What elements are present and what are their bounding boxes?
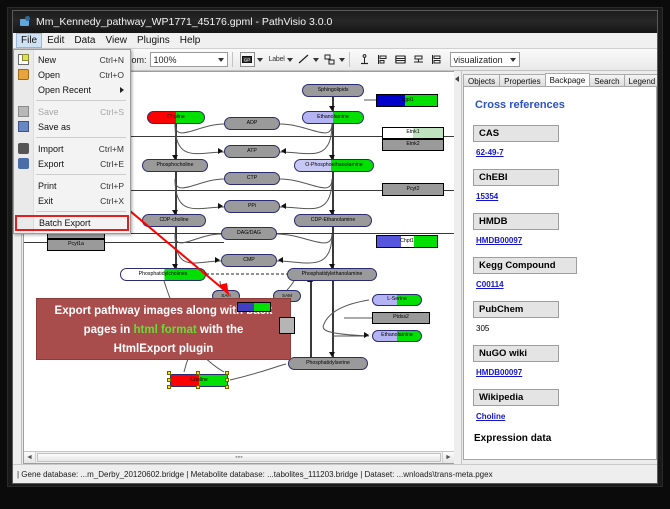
import-icon	[18, 143, 29, 154]
pathvisio-window: Mm_Kennedy_pathway_WP1771_45176.gpml - P…	[12, 10, 658, 484]
file-menu-open-accel: Ctrl+O	[99, 70, 130, 80]
arrow-ppi-left	[218, 203, 223, 209]
node-label: CMP	[243, 258, 255, 263]
node-phosphocholine[interactable]: Phosphocholine	[142, 159, 208, 172]
file-menu-export-accel: Ctrl+E	[100, 159, 130, 169]
node-pemt[interactable]	[237, 302, 271, 312]
file-menu-export[interactable]: Export Ctrl+E	[14, 156, 130, 171]
node-ctp[interactable]: CTP	[224, 172, 280, 185]
node-unnamed-grey[interactable]	[279, 317, 295, 334]
zoom-combo[interactable]: 100%	[150, 52, 228, 67]
cross-references-title: Cross references	[475, 99, 647, 111]
selection-handle-sw[interactable]	[167, 385, 171, 389]
node-sphingolipids[interactable]: Sphingolipids	[302, 84, 364, 97]
file-menu-separator-1	[36, 100, 126, 101]
menu-file[interactable]: File	[16, 33, 42, 48]
node-pcyt1a[interactable]: Pcyt1a	[47, 239, 105, 251]
xref-value: 305	[476, 324, 489, 333]
arrow-atp-left	[218, 148, 223, 154]
align-left-icon[interactable]	[375, 52, 390, 67]
node-label: Sphingolipids	[318, 88, 349, 93]
file-dropdown-menu: New Ctrl+N Open Ctrl+O Open Recent Save …	[13, 49, 131, 234]
selection-handle-ne[interactable]	[225, 371, 229, 375]
xref-link[interactable]: Choline	[476, 412, 505, 421]
align-center-icon[interactable]	[393, 52, 408, 67]
node-atp[interactable]: ATP	[224, 145, 280, 158]
node-cdp-ethanolamine[interactable]: CDP-Ethanolamine	[294, 214, 372, 227]
annotation-line-2a: pages in	[84, 324, 134, 336]
file-menu-open-recent[interactable]: Open Recent	[14, 82, 130, 97]
edge-v-ps-pe	[310, 281, 312, 357]
anchor-icon[interactable]	[357, 52, 372, 67]
xref-wikipedia: Wikipedia Choline	[473, 389, 647, 424]
save-as-icon	[18, 121, 29, 132]
node-label: CDP-choline	[159, 218, 188, 223]
node-cmp[interactable]: CMP	[221, 254, 277, 267]
annotation-line-2: pages in html format with the	[37, 321, 290, 340]
status-bar: | Gene database: ...m_Derby_20120602.bri…	[13, 464, 657, 483]
edge-v-choline-3	[175, 227, 177, 269]
node-label: ATP	[247, 149, 257, 154]
node-label: Chpt1	[400, 239, 414, 244]
node-label: Phosphatidylcholines	[139, 272, 188, 277]
file-menu-exit-label: Exit	[38, 196, 53, 206]
menu-edit[interactable]: Edit	[42, 33, 69, 48]
arrow-atp-right	[281, 148, 286, 154]
annotation-line-3: HtmlExport plugin	[37, 340, 290, 359]
arrow-cmp-left	[215, 257, 220, 263]
edge-v-etn-3	[332, 227, 334, 269]
node-label: Phosphocholine	[157, 163, 194, 168]
node-label: Ethanolamine	[381, 333, 413, 338]
export-icon	[18, 158, 29, 169]
node-sgpl1[interactable]: Sgpl1	[376, 94, 438, 107]
side-panel-rail	[454, 71, 462, 464]
status-text: | Gene database: ...m_Derby_20120602.bri…	[17, 470, 493, 479]
xref-label: HMDB	[473, 213, 559, 230]
file-menu-print[interactable]: Print Ctrl+P	[14, 178, 130, 193]
new-file-icon	[18, 54, 29, 65]
toolbar-divider-2	[349, 52, 350, 67]
file-menu-open-recent-label: Open Recent	[38, 85, 91, 95]
selection-handle-e[interactable]	[225, 378, 229, 382]
edge-v-choline-2	[175, 172, 177, 215]
xref-label: CAS	[473, 125, 559, 142]
node-label: Ethanolamine	[317, 115, 349, 120]
node-phosphatidylcholines[interactable]: Phosphatidylcholines	[120, 268, 206, 281]
file-menu-print-label: Print	[38, 181, 57, 191]
node-label: Ptdss2	[393, 315, 409, 320]
selection-handle-se[interactable]	[225, 385, 229, 389]
canvas-horizontal-scrollbar[interactable]: ◄ ▪▪▪ ►	[24, 451, 454, 463]
xref-label: ChEBI	[473, 169, 559, 186]
node-label: O-Phosphoethanolamine	[305, 163, 362, 168]
file-menu-separator-4	[36, 211, 126, 212]
menu-help[interactable]: Help	[175, 33, 206, 48]
edge-v-etn-2	[332, 172, 334, 215]
side-panel: Objects Properties Backpage Search Legen…	[454, 71, 657, 464]
node-etnk2[interactable]: Etnk2	[382, 139, 444, 151]
node-label: Pcyt2	[407, 187, 420, 192]
svg-text:GP: GP	[244, 57, 251, 62]
node-label: Etnk1	[406, 130, 419, 135]
node-o-phosphoethanolamine[interactable]: O-Phosphoethanolamine	[294, 159, 374, 172]
file-menu-batch-export[interactable]: Batch Export	[15, 215, 129, 231]
file-menu-import-label: Import	[38, 144, 64, 154]
open-folder-icon	[18, 69, 29, 80]
shape-dropdown-icon[interactable]	[339, 58, 345, 62]
menu-bar: File Edit Data View Plugins Help	[13, 33, 657, 49]
xref-link[interactable]: 15354	[476, 192, 498, 201]
node-label: L-Serine	[387, 297, 407, 302]
backpage-content: Cross references CAS 62-49-7 ChEBI 15354…	[463, 86, 657, 460]
chevron-down-icon-2	[510, 58, 516, 62]
app-icon	[19, 16, 31, 28]
node-label: DAG/DAG	[237, 231, 261, 236]
node-dag[interactable]: DAG/DAG	[221, 227, 277, 240]
file-menu-exit[interactable]: Exit Ctrl+X	[14, 193, 130, 208]
side-panel-tabs: Objects Properties Backpage Search Legen…	[463, 73, 657, 87]
xref-link[interactable]: 62-49-7	[476, 148, 504, 157]
xref-nugo: NuGO wiki HMDB00097	[473, 345, 647, 380]
selection-handle-nw[interactable]	[167, 371, 171, 375]
arrow-cmp-right	[278, 257, 283, 263]
scrollbar-thumb[interactable]: ▪▪▪	[37, 453, 441, 462]
arrow-etn-bottom	[364, 332, 369, 338]
file-menu-separator-3	[36, 174, 126, 175]
scroll-left-icon[interactable]: ◄	[24, 452, 36, 463]
label-dropdown-icon[interactable]	[287, 58, 293, 62]
line-dropdown-icon[interactable]	[313, 58, 319, 62]
node-label: Sgpl1	[400, 98, 413, 103]
node-phosphatidylethanolamine[interactable]: Phosphatidylethanolamine	[287, 268, 377, 281]
toolbar-divider	[232, 52, 233, 67]
node-phosphatidylserine[interactable]: Phosphatidylserine	[288, 357, 368, 370]
visualization-value: visualization	[454, 55, 503, 65]
window-title: Mm_Kennedy_pathway_WP1771_45176.gpml - P…	[36, 16, 332, 28]
edge-v-pe-ps	[332, 281, 334, 357]
file-menu-new-accel: Ctrl+N	[100, 55, 130, 65]
arrow-ppi-right	[281, 203, 286, 209]
file-menu-separator-2	[36, 137, 126, 138]
file-menu-save-accel: Ctrl+S	[100, 107, 130, 117]
node-label: PPi	[248, 204, 256, 209]
xref-chebi: ChEBI 15354	[473, 169, 647, 204]
xref-label: Kegg Compound	[473, 257, 577, 274]
node-ptdss2[interactable]: Ptdss2	[372, 312, 430, 324]
node-etnk1[interactable]: Etnk1	[382, 127, 444, 139]
menu-plugins[interactable]: Plugins	[132, 33, 175, 48]
stack-icon[interactable]	[429, 52, 444, 67]
annotation-line-2b: with the	[197, 324, 244, 336]
file-menu-new-label: New	[38, 55, 56, 65]
collapse-panel-icon[interactable]	[455, 76, 459, 82]
node-label: Pcyt1a	[68, 242, 84, 247]
file-menu-save-label: Save	[38, 107, 59, 117]
node-choline-top[interactable]: Choline	[147, 111, 205, 124]
node-label: Phosphatidylserine	[306, 361, 350, 366]
gene-product-icon[interactable]: GP	[240, 52, 255, 67]
annotation-highlight: html format	[133, 324, 196, 336]
xref-link[interactable]: HMDB00097	[476, 236, 522, 245]
file-menu-print-accel: Ctrl+P	[100, 181, 130, 191]
node-chpt1[interactable]: Chpt1	[376, 235, 438, 248]
selection-handle-s[interactable]	[196, 385, 200, 389]
title-bar: Mm_Kennedy_pathway_WP1771_45176.gpml - P…	[13, 11, 657, 33]
line-icon[interactable]	[296, 52, 311, 67]
node-ethanolamine-bottom[interactable]: Ethanolamine	[372, 330, 422, 342]
node-label: Choline	[167, 115, 185, 120]
node-ppi[interactable]: PPi	[224, 200, 280, 213]
file-menu-exit-accel: Ctrl+X	[100, 196, 130, 206]
screenshot-root: Mm_Kennedy_pathway_WP1771_45176.gpml - P…	[0, 0, 670, 509]
node-cdp-choline[interactable]: CDP-choline	[142, 214, 206, 227]
xref-hmdb: HMDB HMDB00097	[473, 213, 647, 248]
menu-data[interactable]: Data	[69, 33, 100, 48]
zoom-value: 100%	[154, 55, 177, 65]
file-menu-import-accel: Ctrl+M	[99, 144, 130, 154]
file-menu-new[interactable]: New Ctrl+N	[14, 52, 130, 67]
node-label: Choline	[190, 378, 208, 383]
visualization-combo[interactable]: visualization	[450, 52, 520, 67]
submenu-arrow-icon	[120, 87, 130, 93]
selection-handle-n[interactable]	[196, 371, 200, 375]
xref-pubchem: PubChem 305	[473, 301, 647, 336]
expression-data-heading: Expression data	[474, 433, 647, 444]
file-menu-save[interactable]: Save Ctrl+S	[14, 104, 130, 119]
file-menu-import[interactable]: Import Ctrl+M	[14, 141, 130, 156]
node-ethanolamine-top[interactable]: Ethanolamine	[302, 111, 364, 124]
file-menu-open[interactable]: Open Ctrl+O	[14, 67, 130, 82]
shape-icon[interactable]	[322, 52, 337, 67]
node-adp[interactable]: ADP	[224, 117, 280, 130]
xref-link[interactable]: C00114	[476, 280, 504, 289]
label-button[interactable]: Label	[269, 56, 285, 63]
node-label: CTP	[247, 176, 257, 181]
selection-handle-w[interactable]	[167, 378, 171, 382]
xref-label: PubChem	[473, 301, 559, 318]
node-label: Etnk2	[406, 142, 419, 147]
xref-kegg: Kegg Compound C00114	[473, 257, 647, 292]
menu-view[interactable]: View	[100, 33, 132, 48]
tab-backpage[interactable]: Backpage	[545, 73, 591, 87]
gene-product-dropdown-icon[interactable]	[257, 58, 263, 62]
node-l-serine[interactable]: L-Serine	[372, 294, 422, 306]
node-pcyt2[interactable]: Pcyt2	[382, 183, 444, 196]
chevron-down-icon	[218, 58, 224, 62]
file-menu-save-as-label: Save as	[38, 122, 71, 132]
node-label: Phosphatidylethanolamine	[302, 272, 363, 277]
save-icon	[18, 106, 29, 117]
xref-label: NuGO wiki	[473, 345, 559, 362]
scroll-right-icon[interactable]: ►	[442, 452, 454, 463]
file-menu-save-as[interactable]: Save as	[14, 119, 130, 134]
xref-link[interactable]: HMDB00097	[476, 368, 522, 377]
file-menu-export-label: Export	[38, 159, 64, 169]
xref-label: Wikipedia	[473, 389, 559, 406]
distribute-icon[interactable]	[411, 52, 426, 67]
node-label: CDP-Ethanolamine	[311, 218, 355, 223]
file-menu-batch-export-label: Batch Export	[39, 218, 91, 228]
file-menu-open-label: Open	[38, 70, 60, 80]
xref-cas: CAS 62-49-7	[473, 125, 647, 160]
node-label: ADP	[247, 121, 258, 126]
